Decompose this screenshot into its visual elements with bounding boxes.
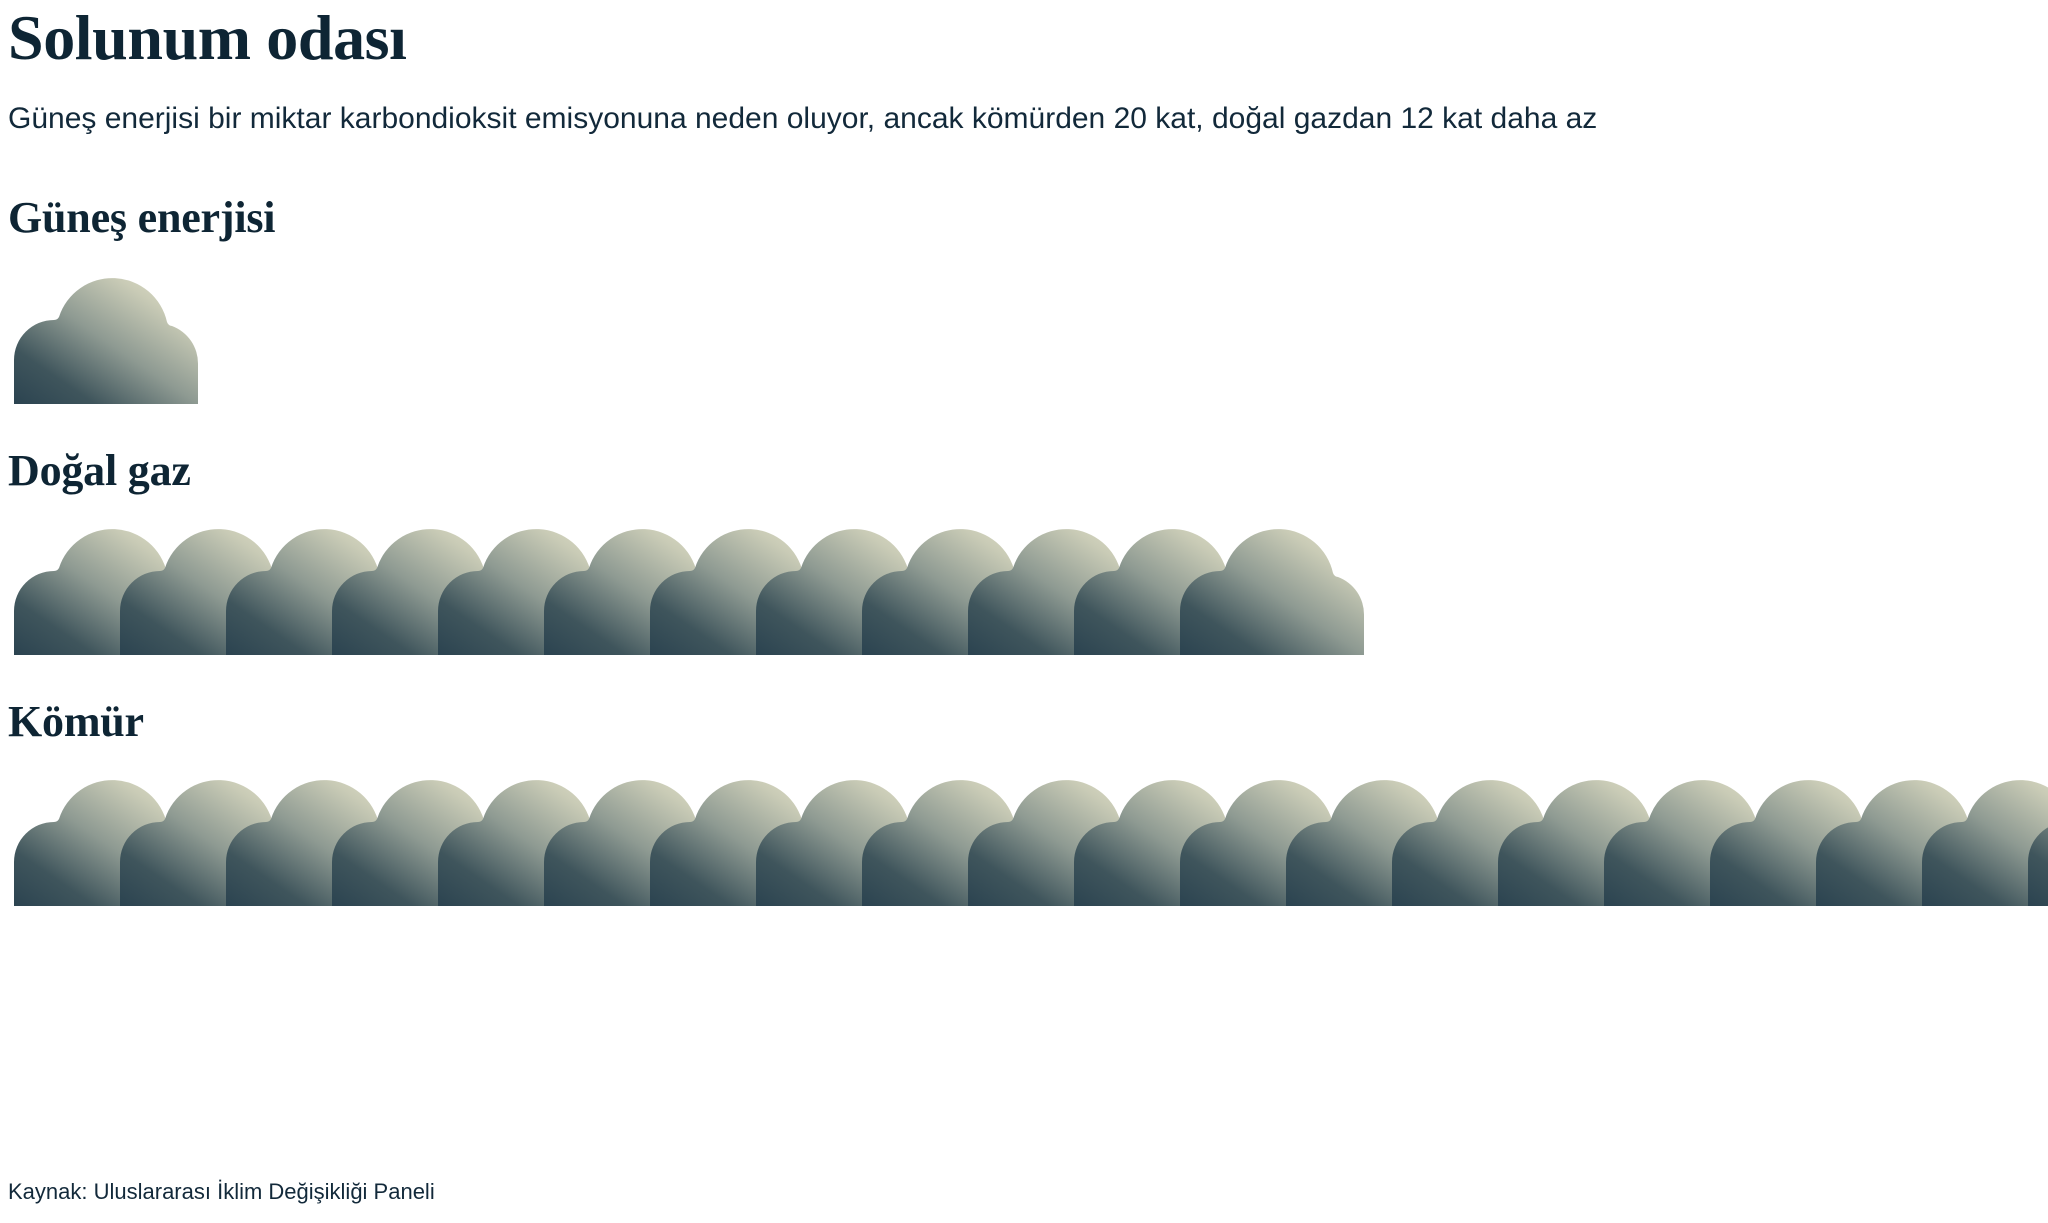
section-gas: Doğal gaz — [8, 449, 2048, 655]
page-title: Solunum odası — [8, 0, 2048, 70]
cloud-row-coal — [8, 766, 2048, 906]
cloud-row-solar — [8, 264, 2048, 404]
infographic-page: Solunum odası Güneş enerjisi bir miktar … — [0, 0, 2048, 1223]
section-label-coal: Kömür — [8, 700, 2048, 744]
source-note: Kaynak: Uluslararası İklim Değişikliği P… — [8, 1179, 435, 1205]
page-subtitle: Güneş enerjisi bir miktar karbondioksit … — [8, 96, 1868, 142]
cloud-icon — [1174, 515, 1370, 655]
cloud-row-gas — [8, 515, 2048, 655]
section-label-solar: Güneş enerjisi — [8, 196, 2048, 240]
cloud-icon — [8, 264, 204, 404]
section-coal: Kömür — [8, 700, 2048, 906]
section-label-gas: Doğal gaz — [8, 449, 2048, 493]
cloud-icon — [2022, 766, 2048, 906]
section-solar: Güneş enerjisi — [8, 196, 2048, 404]
